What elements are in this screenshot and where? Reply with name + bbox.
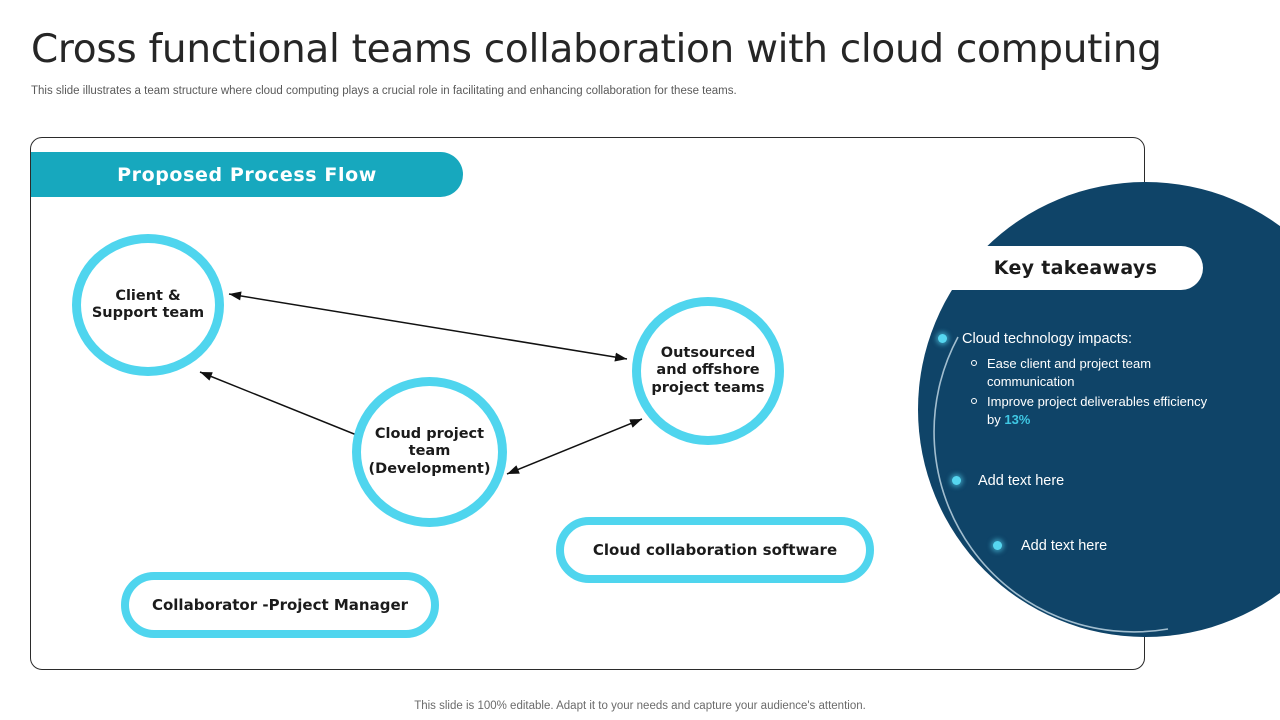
takeaways-title-pill: Key takeaways: [948, 246, 1203, 290]
takeaway-item-text: Cloud technology impacts:: [962, 331, 1132, 347]
flow-node-label: Outsourcedand offshoreproject teams: [651, 345, 764, 396]
flow-node-cloud-project-team[interactable]: Cloud projectteam(Development): [352, 377, 507, 527]
page-title: Cross functional teams collaboration wit…: [31, 27, 1162, 72]
takeaway-metric-badge: 13%: [1004, 412, 1030, 427]
proposed-process-flow-label: Proposed Process Flow: [117, 164, 377, 186]
flow-node-outsourced-offshore-teams[interactable]: Outsourcedand offshoreproject teams: [632, 297, 784, 445]
takeaway-item-text: Add text here: [978, 473, 1064, 489]
connector-clouddev-outsourced: [507, 419, 642, 474]
connector-client-clouddev: [200, 372, 374, 442]
takeaway-bullet-dot: [938, 334, 947, 343]
page-subtitle: This slide illustrates a team structure …: [31, 85, 737, 97]
takeaways-title: Key takeaways: [994, 257, 1157, 279]
flow-node-client-support-team[interactable]: Client &Support team: [72, 234, 224, 376]
takeaway-bullet-dot: [952, 476, 961, 485]
takeaway-sub-item: Improve project deliverables efficiency …: [987, 393, 1217, 429]
flow-node-cloud-collaboration-software[interactable]: Cloud collaboration software: [556, 517, 874, 583]
slide-footer: This slide is 100% editable. Adapt it to…: [0, 700, 1280, 712]
takeaway-item-text: Add text here: [1021, 538, 1107, 554]
takeaway-sub-item: Ease client and project team communicati…: [987, 355, 1217, 391]
flow-node-label: Cloud projectteam(Development): [369, 426, 491, 477]
takeaway-bullet-dot: [993, 541, 1002, 550]
takeaway-sub-list: Ease client and project team communicati…: [966, 355, 1217, 431]
flow-node-label: Collaborator -Project Manager: [152, 596, 408, 614]
connector-client-outsourced: [229, 294, 627, 359]
flow-node-collaborator-project-manager[interactable]: Collaborator -Project Manager: [121, 572, 439, 638]
proposed-process-flow-banner: Proposed Process Flow: [31, 152, 463, 197]
flow-node-label: Cloud collaboration software: [593, 541, 837, 559]
flow-node-label: Client &Support team: [92, 288, 204, 322]
